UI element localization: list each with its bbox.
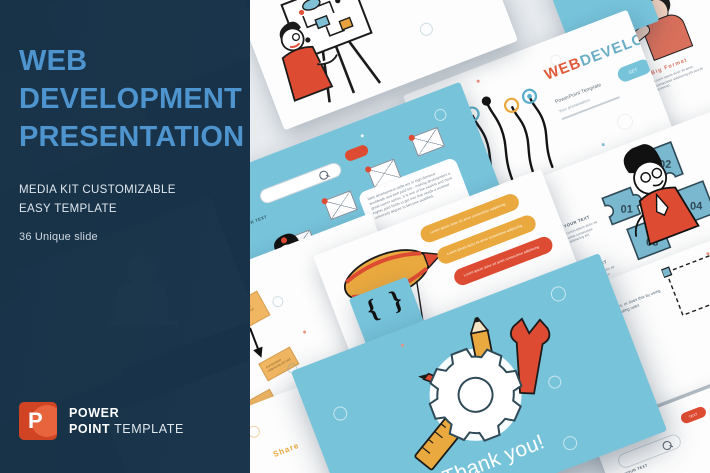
brand-line-2-bold: POINT — [69, 422, 110, 436]
hero-title-line-2: DEVELOPMENT — [19, 85, 242, 114]
envelope-icon[interactable] — [410, 127, 445, 157]
brand-line-1: POWER — [69, 405, 184, 421]
powerpoint-icon-letter: P — [28, 408, 43, 434]
mail-slide-accent-pill — [343, 144, 369, 163]
hero-slide-count: 36 Unique slide — [19, 231, 98, 243]
hero-subtitle-line-1: MEDIA KIT CUSTOMIZABLE — [19, 184, 176, 196]
title-slide-word-web: WEB — [542, 54, 584, 83]
search-bottom-button-label: TEXT — [688, 412, 698, 420]
hero-subtitle-line-2: EASY TEMPLATE — [19, 203, 117, 215]
search-bottom-button[interactable]: TEXT — [679, 405, 707, 425]
brand-line-2-light: TEMPLATE — [114, 422, 184, 436]
hero-title-line-3: PRESENTATION — [19, 123, 244, 152]
hero-title-line-1: WEB — [19, 47, 87, 76]
envelope-icon[interactable] — [323, 190, 358, 220]
title-slide-button-label: GET — [628, 67, 639, 76]
poster-canvas: Big Format Lorem ipsum dolor sit amet co… — [0, 0, 710, 473]
hero-panel: WEB DEVELOPMENT PRESENTATION MEDIA KIT C… — [0, 0, 250, 473]
powerpoint-brand-lockup: P POWER POINT TEMPLATE — [19, 402, 184, 440]
bottom-left-word: Share — [272, 441, 301, 459]
svg-text:04: 04 — [690, 200, 703, 212]
powerpoint-icon: P — [19, 402, 57, 440]
whiteboard-illustration — [254, 0, 413, 120]
svg-text:01: 01 — [620, 203, 632, 215]
brand-text: POWER POINT TEMPLATE — [69, 405, 184, 437]
